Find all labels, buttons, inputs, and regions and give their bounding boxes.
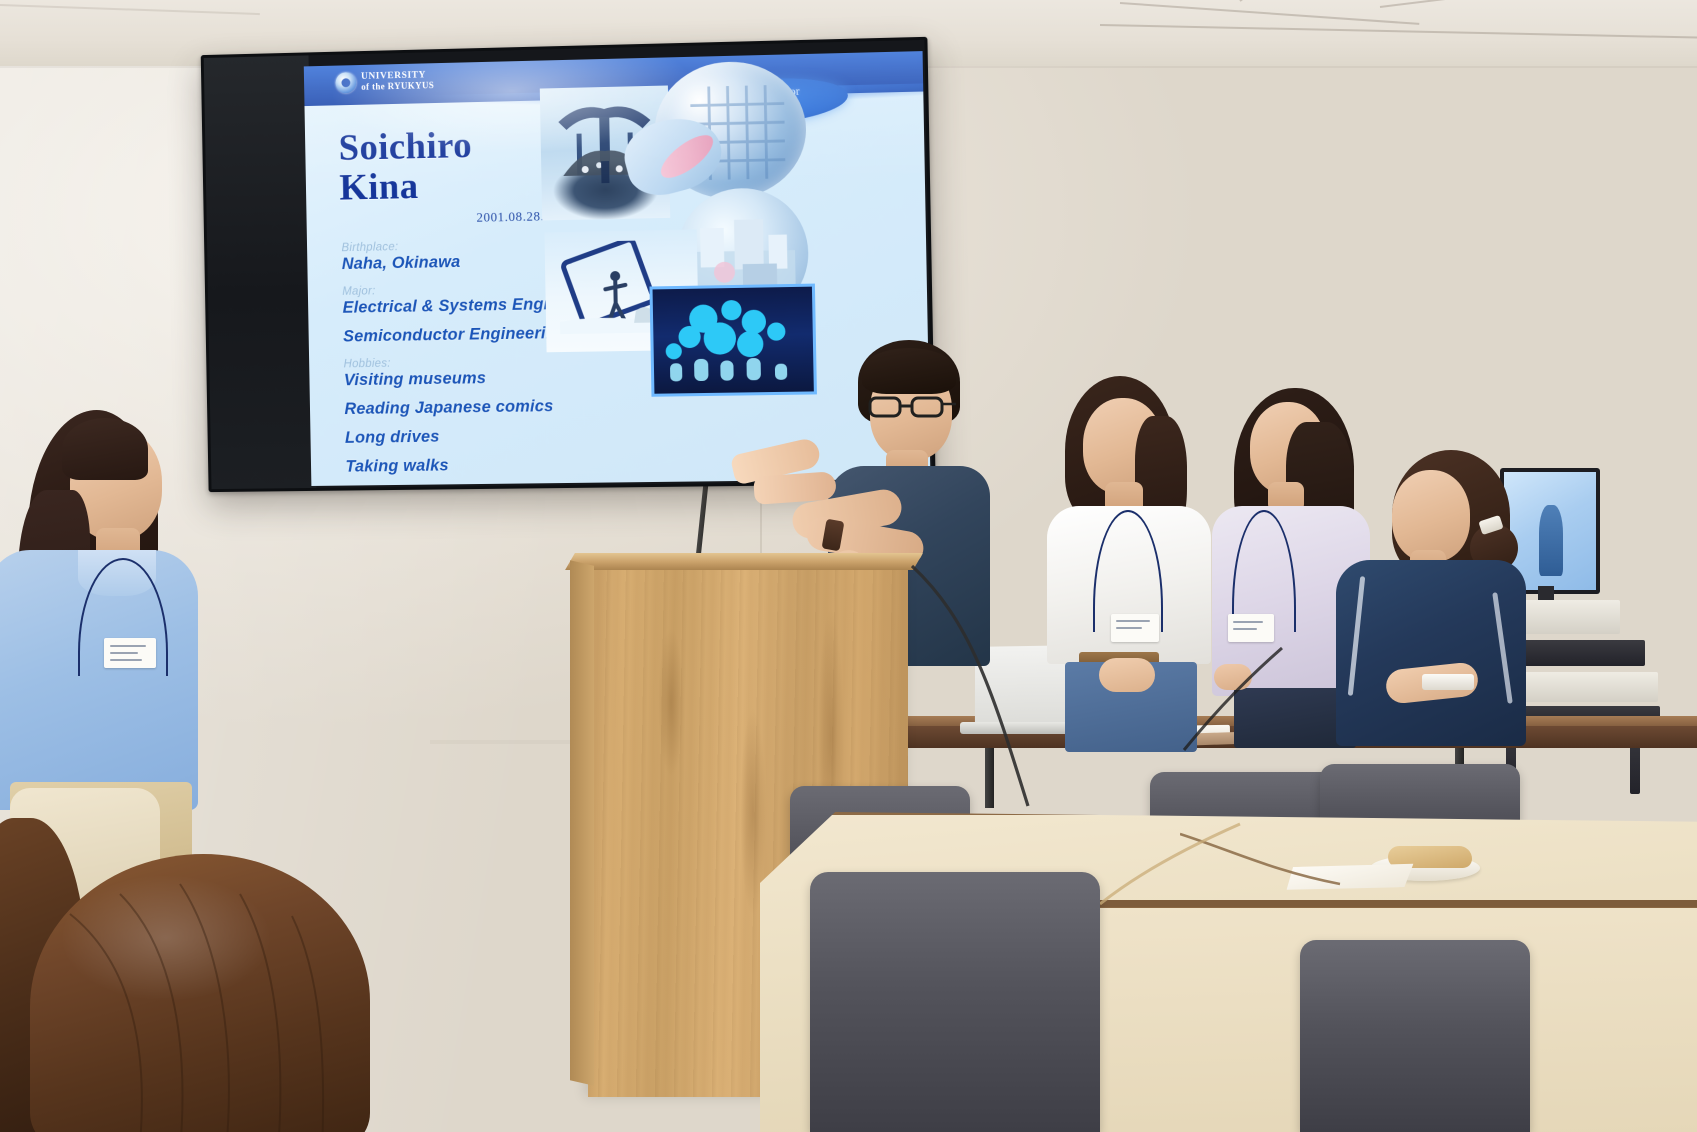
- hair-strands: [30, 854, 370, 1132]
- classroom-presentation-scene: UNIVERSITY of the RYUKYUS semiconductor …: [0, 0, 1697, 1132]
- classroom-chair[interactable]: [810, 872, 1100, 1132]
- student-navy-jersey: [1330, 450, 1540, 750]
- classroom-chair[interactable]: [1300, 940, 1530, 1132]
- student-lavender-badge: [1228, 614, 1274, 642]
- student-left-badge: [104, 638, 156, 668]
- power-cable: [900, 560, 1090, 820]
- student-white-tee-hands: [1099, 658, 1155, 692]
- student-navy-head: [1392, 470, 1470, 562]
- audience-head-foreground-center: [30, 854, 390, 1132]
- presenter-hand-left: [753, 471, 837, 505]
- student-navy-jersey-body: [1336, 560, 1526, 746]
- podium-side-panel: [570, 560, 594, 1086]
- floor-cable: [1180, 646, 1300, 756]
- student-left-bangs: [62, 418, 148, 480]
- monitor-content: [1539, 505, 1563, 576]
- podium-top-surface: [565, 553, 923, 570]
- student-white-tee-badge: [1111, 614, 1159, 642]
- student-navy-phone[interactable]: [1422, 674, 1474, 690]
- table-seam: [1100, 820, 1460, 910]
- eyeglasses-icon: [866, 394, 958, 420]
- presenter-hair-fringe: [862, 348, 956, 394]
